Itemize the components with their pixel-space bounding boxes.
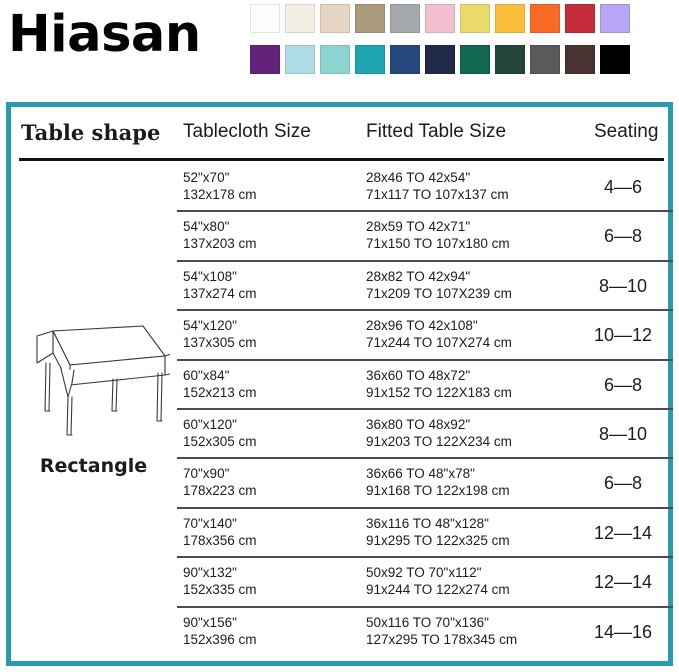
cell-seating: 14—16	[577, 620, 669, 644]
color-swatch-red[interactable]	[565, 4, 595, 33]
tablecloth-size-cm: 137x305 cm	[183, 334, 257, 351]
table-row: 60"x120"152x305 cm36x80 TO 48x92"91x203 …	[177, 410, 673, 459]
cell-tablecloth-size: 70"x140"178x356 cm	[183, 515, 257, 549]
tablecloth-size-cm: 152x305 cm	[183, 433, 257, 450]
cell-fitted-table-size: 36x66 TO 48"x78"91x168 TO 122x198 cm	[366, 465, 510, 499]
color-swatch-aqua-mint[interactable]	[320, 45, 350, 74]
cell-fitted-table-size: 36x116 TO 48"x128"91x295 TO 122x325 cm	[366, 515, 510, 549]
cell-fitted-table-size: 28x82 TO 42x94"71x209 TO 107X239 cm	[366, 268, 512, 302]
color-swatch-lavender[interactable]	[600, 4, 630, 33]
cell-tablecloth-size: 52"x70"132x178 cm	[183, 169, 257, 203]
brand-header: Hiasan	[0, 0, 679, 95]
cell-seating: 6—8	[577, 471, 669, 495]
cell-fitted-table-size: 28x46 TO 42x54"71x117 TO 107x137 cm	[366, 169, 509, 203]
fitted-size-inches: 36x60 TO 48x72"	[366, 367, 512, 384]
tablecloth-size-inches: 90"x156"	[183, 614, 257, 631]
table-row: 52"x70"132x178 cm28x46 TO 42x54"71x117 T…	[177, 163, 673, 212]
fitted-size-inches: 28x46 TO 42x54"	[366, 169, 509, 186]
fitted-size-cm: 91x244 TO 122x274 cm	[366, 581, 510, 598]
table-row: 90"x132"152x335 cm50x92 TO 70"x112"91x24…	[177, 558, 673, 607]
cell-seating: 12—14	[577, 570, 669, 594]
cell-tablecloth-size: 90"x156"152x396 cm	[183, 614, 257, 648]
fitted-size-cm: 71x117 TO 107x137 cm	[366, 186, 509, 203]
color-swatch-white[interactable]	[250, 4, 280, 33]
fitted-size-cm: 127x295 TO 178x345 cm	[366, 631, 517, 648]
fitted-size-cm: 71x244 TO 107X274 cm	[366, 334, 512, 351]
color-swatch-black[interactable]	[600, 45, 630, 74]
column-header-fitted-table-size: Fitted Table Size	[366, 121, 506, 143]
fitted-size-inches: 28x82 TO 42x94"	[366, 268, 512, 285]
rectangle-table-icon	[15, 323, 170, 443]
fitted-size-inches: 36x80 TO 48x92"	[366, 416, 512, 433]
cell-tablecloth-size: 70"x90"178x223 cm	[183, 465, 257, 499]
tablecloth-size-cm: 137x274 cm	[183, 285, 257, 302]
table-row: 54"x120"137x305 cm28x96 TO 42x108"71x244…	[177, 311, 673, 360]
tablecloth-size-inches: 70"x140"	[183, 515, 257, 532]
color-swatch-ivory[interactable]	[285, 4, 315, 33]
swatch-row-1	[250, 4, 670, 33]
tablecloth-size-inches: 60"x84"	[183, 367, 257, 384]
fitted-size-inches: 28x96 TO 42x108"	[366, 317, 512, 334]
cell-fitted-table-size: 28x96 TO 42x108"71x244 TO 107X274 cm	[366, 317, 512, 351]
cell-tablecloth-size: 90"x132"152x335 cm	[183, 564, 257, 598]
color-swatch-teal[interactable]	[355, 45, 385, 74]
cell-seating: 12—14	[577, 521, 669, 545]
column-header-seating: Seating	[594, 121, 658, 143]
column-header-table-shape: Table shape	[21, 120, 160, 145]
fitted-size-inches: 36x66 TO 48"x78"	[366, 465, 510, 482]
table-header-row: Table shape Tablecloth Size Fitted Table…	[11, 115, 668, 159]
tablecloth-size-inches: 52"x70"	[183, 169, 257, 186]
fitted-size-cm: 91x203 TO 122X234 cm	[366, 433, 512, 450]
tablecloth-size-inches: 54"x80"	[183, 218, 257, 235]
color-swatch-beige[interactable]	[320, 4, 350, 33]
color-swatch-blush-pink[interactable]	[425, 4, 455, 33]
tablecloth-size-cm: 132x178 cm	[183, 186, 257, 203]
cell-fitted-table-size: 28x59 TO 42x71"71x150 TO 107x180 cm	[366, 218, 510, 252]
fitted-size-inches: 36x116 TO 48"x128"	[366, 515, 510, 532]
tablecloth-size-inches: 70"x90"	[183, 465, 257, 482]
table-row: 90"x156"152x396 cm50x116 TO 70"x136"127x…	[177, 608, 673, 657]
table-row: 54"x80"137x203 cm28x59 TO 42x71"71x150 T…	[177, 212, 673, 261]
fitted-size-inches: 28x59 TO 42x71"	[366, 218, 510, 235]
tablecloth-size-cm: 137x203 cm	[183, 235, 257, 252]
color-swatch-hunter-green[interactable]	[495, 45, 525, 74]
cell-seating: 6—8	[577, 373, 669, 397]
cell-seating: 10—12	[577, 323, 669, 347]
tablecloth-size-cm: 152x213 cm	[183, 384, 257, 401]
cell-fitted-table-size: 50x116 TO 70"x136"127x295 TO 178x345 cm	[366, 614, 517, 648]
cell-tablecloth-size: 54"x120"137x305 cm	[183, 317, 257, 351]
color-swatch-pale-yellow[interactable]	[460, 4, 490, 33]
cell-seating: 8—10	[577, 274, 669, 298]
tablecloth-size-inches: 54"x108"	[183, 268, 257, 285]
column-header-tablecloth-size: Tablecloth Size	[183, 121, 311, 143]
color-swatch-dark-brown[interactable]	[565, 45, 595, 74]
color-swatch-denim-blue[interactable]	[390, 45, 420, 74]
brand-logo: Hiasan	[8, 4, 201, 66]
tablecloth-size-cm: 152x396 cm	[183, 631, 257, 648]
cell-tablecloth-size: 60"x84"152x213 cm	[183, 367, 257, 401]
fitted-size-cm: 71x209 TO 107X239 cm	[366, 285, 512, 302]
cell-tablecloth-size: 60"x120"152x305 cm	[183, 416, 257, 450]
table-shape-cell: Rectangle	[11, 163, 176, 661]
tablecloth-size-inches: 54"x120"	[183, 317, 257, 334]
cell-seating: 8—10	[577, 422, 669, 446]
color-swatch-emerald-green[interactable]	[460, 45, 490, 74]
table-shape-label: Rectangle	[11, 455, 176, 477]
tablecloth-size-cm: 178x223 cm	[183, 482, 257, 499]
tablecloth-size-inches: 90"x132"	[183, 564, 257, 581]
color-swatch-navy[interactable]	[425, 45, 455, 74]
cell-fitted-table-size: 36x60 TO 48x72"91x152 TO 122X183 cm	[366, 367, 512, 401]
cell-tablecloth-size: 54"x80"137x203 cm	[183, 218, 257, 252]
tablecloth-size-cm: 178x356 cm	[183, 532, 257, 549]
cell-seating: 6—8	[577, 224, 669, 248]
color-swatch-golden-yellow[interactable]	[495, 4, 525, 33]
table-row: 60"x84"152x213 cm36x60 TO 48x72"91x152 T…	[177, 361, 673, 410]
cell-seating: 4—6	[577, 175, 669, 199]
fitted-size-cm: 91x295 TO 122x325 cm	[366, 532, 510, 549]
table-row: 54"x108"137x274 cm28x82 TO 42x94"71x209 …	[177, 262, 673, 311]
size-chart-frame: Table shape Tablecloth Size Fitted Table…	[6, 102, 673, 666]
header-divider	[19, 158, 664, 161]
color-swatch-grid	[250, 4, 670, 86]
fitted-size-cm: 71x150 TO 107x180 cm	[366, 235, 510, 252]
table-row: 70"x90"178x223 cm36x66 TO 48"x78"91x168 …	[177, 459, 673, 508]
color-swatch-dark-gray[interactable]	[530, 45, 560, 74]
fitted-size-inches: 50x116 TO 70"x136"	[366, 614, 517, 631]
color-swatch-silver-gray[interactable]	[390, 4, 420, 33]
color-swatch-orange[interactable]	[530, 4, 560, 33]
fitted-size-cm: 91x152 TO 122X183 cm	[366, 384, 512, 401]
fitted-size-inches: 50x92 TO 70"x112"	[366, 564, 510, 581]
tablecloth-size-inches: 60"x120"	[183, 416, 257, 433]
cell-fitted-table-size: 36x80 TO 48x92"91x203 TO 122X234 cm	[366, 416, 512, 450]
fitted-size-cm: 91x168 TO 122x198 cm	[366, 482, 510, 499]
tablecloth-size-cm: 152x335 cm	[183, 581, 257, 598]
swatch-row-2	[250, 45, 670, 74]
cell-tablecloth-size: 54"x108"137x274 cm	[183, 268, 257, 302]
cell-fitted-table-size: 50x92 TO 70"x112"91x244 TO 122x274 cm	[366, 564, 510, 598]
size-rows-container: 52"x70"132x178 cm28x46 TO 42x54"71x117 T…	[177, 163, 673, 657]
color-swatch-light-blue[interactable]	[285, 45, 315, 74]
table-row: 70"x140"178x356 cm36x116 TO 48"x128"91x2…	[177, 509, 673, 558]
color-swatch-taupe[interactable]	[355, 4, 385, 33]
color-swatch-purple[interactable]	[250, 45, 280, 74]
